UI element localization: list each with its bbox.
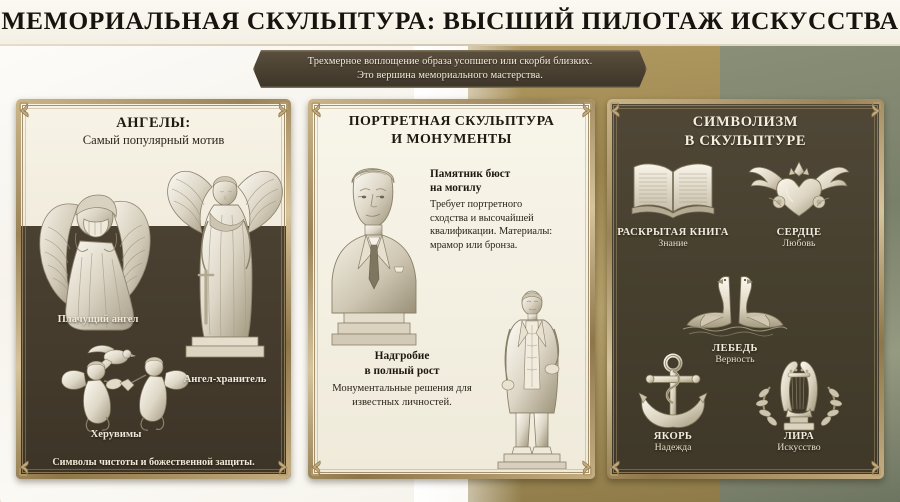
symbol-swans[interactable]: ЛЕБЕДЬ Верность [679, 267, 791, 365]
panel-portrait-title: ПОРТРЕТНАЯ СКУЛЬПТУРА И МОНУМЕНТЫ [308, 113, 595, 149]
panel-symbolism-title-line-1: СИМВОЛИЗМ [607, 113, 884, 132]
symbol-meaning: Знание [617, 238, 729, 249]
portrait-bust-heading-line-1: Памятник бюст [430, 168, 510, 180]
panel-portrait-title-line-2: И МОНУМЕНТЫ [308, 131, 595, 149]
full-body-body: Монументальные решения для известных лич… [314, 382, 490, 410]
symbol-name: РАСКРЫТАЯ КНИГА [617, 227, 729, 238]
portrait-bust-heading: Памятник бюст на могилу [430, 167, 562, 195]
symbol-winged-heart[interactable]: СЕРДЦЕ Любовь [743, 151, 855, 249]
page-title: МЕМОРИАЛЬНАЯ СКУЛЬПТУРА: ВЫСШИЙ ПИЛОТАЖ … [0, 6, 900, 36]
panel-portrait-content: ПОРТРЕТНАЯ СКУЛЬПТУРА И МОНУМЕНТЫ [308, 99, 595, 479]
full-body-heading-line-1: Надгробие [375, 350, 430, 362]
portrait-bust-statue-icon [322, 161, 426, 346]
subtitle-banner: Трехмерное воплощение образа усопшего ил… [253, 50, 647, 88]
panel-portrait-title-line-1: ПОРТРЕТНАЯ СКУЛЬПТУРА [308, 113, 595, 131]
panel-angels-subtitle: Самый популярный мотив [16, 133, 291, 148]
panel-angels[interactable]: АНГЕЛЫ: Самый популярный мотив [16, 99, 291, 479]
panel-portrait-sculpture[interactable]: ПОРТРЕТНАЯ СКУЛЬПТУРА И МОНУМЕНТЫ [308, 99, 595, 479]
portrait-bust-body: Требует портретного сходства и высочайше… [430, 198, 562, 252]
full-body-heading-line-2: в полный рост [364, 365, 439, 377]
panel-symbolism-title: СИМВОЛИЗМ В СКУЛЬПТУРЕ [607, 113, 884, 151]
panel-symbolism-title-line-2: В СКУЛЬПТУРЕ [607, 132, 884, 151]
panel-symbolism[interactable]: СИМВОЛИЗМ В СКУЛЬПТУРЕ [607, 99, 884, 479]
symbol-meaning: Искусство [743, 442, 855, 453]
symbol-anchor[interactable]: ЯКОРЬ Надежда [617, 355, 729, 453]
symbol-meaning: Надежда [617, 442, 729, 453]
symbol-open-book[interactable]: РАСКРЫТАЯ КНИГА Знание [617, 151, 729, 249]
symbol-meaning: Любовь [743, 238, 855, 249]
full-body-heading: Надгробие в полный рост [314, 349, 490, 378]
cherubs-statue-icon [54, 337, 194, 435]
full-body-text-block: Надгробие в полный рост Монументальные р… [314, 349, 490, 410]
caption-cherubs: Херувимы [61, 429, 171, 440]
caption-weeping-angel: Плачущий ангел [38, 314, 158, 325]
full-body-statue-icon [486, 289, 578, 469]
winged-heart-icon [743, 151, 855, 227]
panel-angels-title: АНГЕЛЫ: [16, 115, 291, 132]
anchor-icon [617, 355, 729, 431]
lyre-icon [743, 355, 855, 431]
weeping-angel-statue-icon [32, 157, 158, 332]
portrait-bust-heading-line-2: на могилу [430, 182, 481, 194]
subtitle-line-1: Трехмерное воплощение образа усопшего ил… [308, 55, 593, 69]
panel-angels-content: АНГЕЛЫ: Самый популярный мотив [16, 99, 291, 479]
panel-symbolism-content: СИМВОЛИЗМ В СКУЛЬПТУРЕ [607, 99, 884, 479]
subtitle-line-2: Это вершина мемориального мастерства. [357, 69, 543, 83]
swans-icon [679, 267, 791, 343]
guardian-angel-statue-icon [166, 147, 284, 362]
panel-angels-footer: Символы чистоты и божественной защиты. [22, 457, 285, 468]
portrait-bust-text-block: Памятник бюст на могилу Требует портретн… [430, 167, 562, 252]
open-book-icon [617, 151, 729, 227]
caption-guardian-angel: Ангел-хранитель [166, 374, 284, 385]
symbol-name: СЕРДЦЕ [743, 227, 855, 238]
symbol-lyre[interactable]: ЛИРА Искусство [743, 355, 855, 453]
